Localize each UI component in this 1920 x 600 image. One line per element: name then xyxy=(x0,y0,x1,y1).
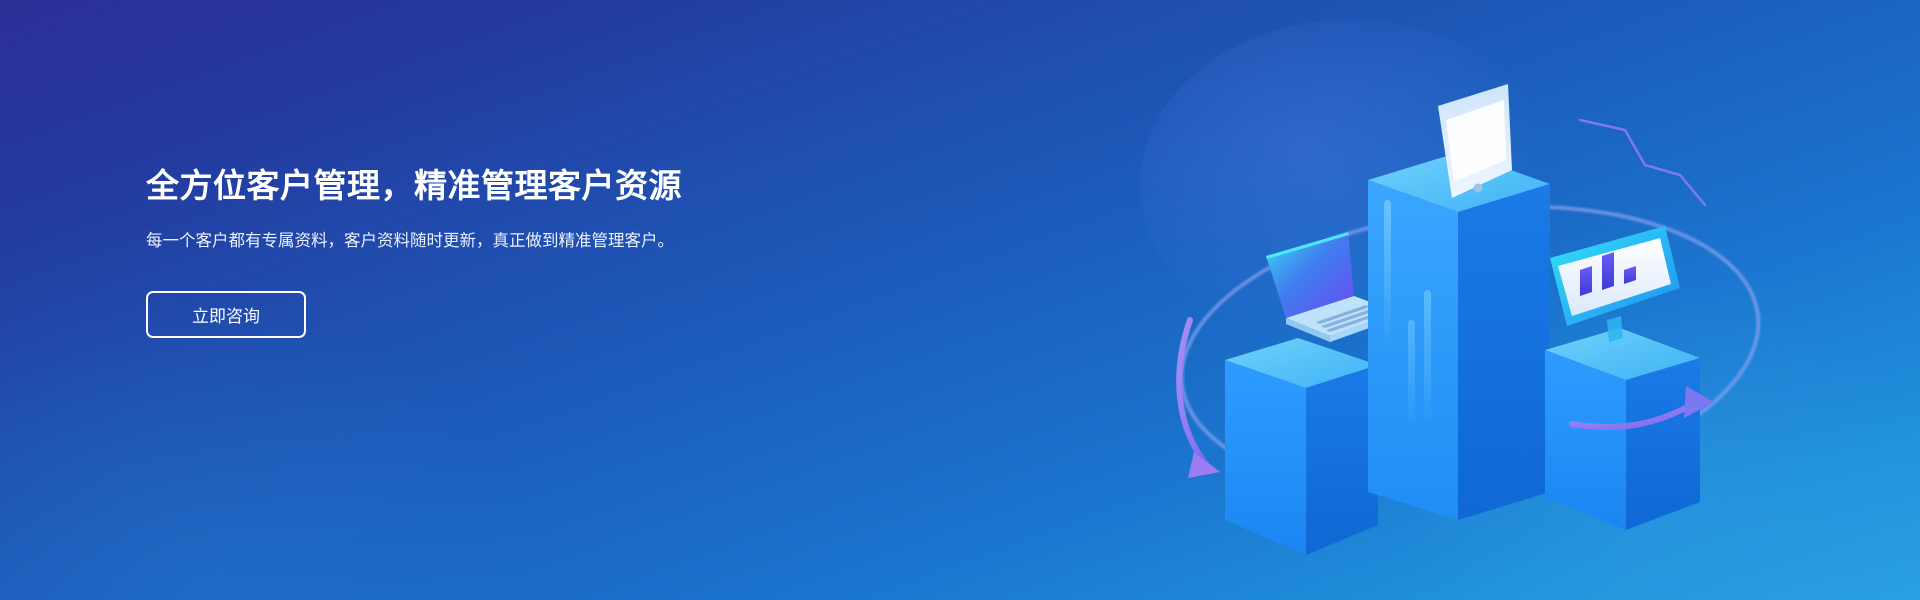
hero-subtitle: 每一个客户都有专属资料，客户资料随时更新，真正做到精准管理客户。 xyxy=(146,228,726,255)
hero-banner: 全方位客户管理，精准管理客户资源 每一个客户都有专属资料，客户资料随时更新，真正… xyxy=(0,0,1920,600)
hero-copy: 全方位客户管理，精准管理客户资源 每一个客户都有专属资料，客户资料随时更新，真正… xyxy=(146,165,786,338)
page-title: 全方位客户管理，精准管理客户资源 xyxy=(146,165,786,206)
hero-illustration xyxy=(1120,20,1840,580)
background-glow-left xyxy=(0,300,540,600)
pillar-center xyxy=(1368,152,1550,520)
pillar-left xyxy=(1225,338,1382,555)
monitor-icon xyxy=(1550,226,1680,342)
consult-now-button[interactable]: 立即咨询 xyxy=(146,291,306,338)
connector-polyline xyxy=(1580,120,1705,205)
